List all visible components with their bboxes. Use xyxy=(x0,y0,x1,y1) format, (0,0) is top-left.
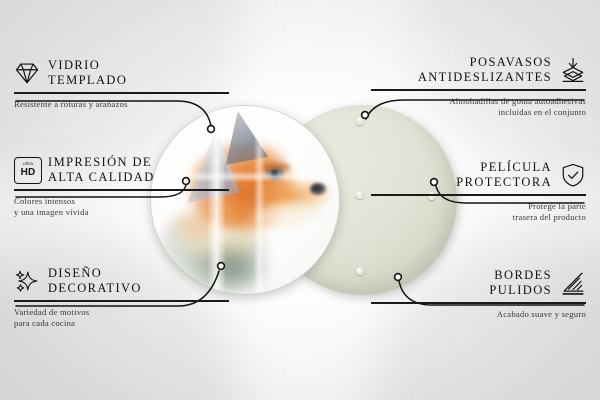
ultra-hd-badge-icon: ultra HD xyxy=(14,157,40,183)
polished-edge-icon xyxy=(560,270,586,296)
feature-title: PELÍCULAPROTECTORA xyxy=(456,160,552,189)
feature-vidrio-templado: VIDRIOTEMPLADO Resistente a roturas y ar… xyxy=(14,58,229,110)
feature-title: IMPRESIÓN DEALTA CALIDAD xyxy=(48,155,155,184)
rubber-pad xyxy=(356,117,364,125)
feature-posavasos-antideslizantes: POSAVASOSANTIDESLIZANTES Almohadillas de… xyxy=(371,55,586,118)
infographic-canvas: VIDRIOTEMPLADO Resistente a roturas y ar… xyxy=(0,0,600,400)
shield-check-icon xyxy=(560,162,586,188)
feature-divider xyxy=(14,300,229,302)
rubber-pad xyxy=(356,191,364,199)
feature-pelicula-protectora: PELÍCULAPROTECTORA Protege la partetrase… xyxy=(371,160,586,223)
diamond-icon xyxy=(14,60,40,86)
feature-divider xyxy=(14,92,229,94)
feature-subtitle: Almohadillas de goma autoadhesivasinclui… xyxy=(371,96,586,118)
feature-subtitle: Variedad de motivospara cada cocina xyxy=(14,307,229,329)
feature-diseno-decorativo: DISEÑODECORATIVO Variedad de motivospara… xyxy=(14,266,229,329)
feature-subtitle: Colores intensosy una imagen vívida xyxy=(14,196,229,218)
feature-divider xyxy=(371,194,586,196)
feature-title: VIDRIOTEMPLADO xyxy=(48,58,127,87)
feature-impresion-alta-calidad: ultra HD IMPRESIÓN DEALTA CALIDAD Colore… xyxy=(14,155,229,218)
feature-title: DISEÑODECORATIVO xyxy=(48,266,142,295)
press-pad-arrow-icon xyxy=(560,57,586,83)
feature-subtitle: Resistente a roturas y arañazos xyxy=(14,99,229,110)
feature-divider xyxy=(14,189,229,191)
sparkles-icon xyxy=(14,268,40,294)
feature-title: POSAVASOSANTIDESLIZANTES xyxy=(418,55,552,84)
rubber-pad xyxy=(356,267,364,275)
feature-subtitle: Acabado suave y seguro xyxy=(371,309,586,320)
feature-subtitle: Protege la partetrasera del producto xyxy=(371,201,586,223)
feature-divider xyxy=(371,89,586,91)
feature-bordes-pulidos: BORDESPULIDOS Acabado suave y seguro xyxy=(371,268,586,320)
hd-label: HD xyxy=(21,168,36,178)
feature-title: BORDESPULIDOS xyxy=(489,268,552,297)
feature-divider xyxy=(371,302,586,304)
